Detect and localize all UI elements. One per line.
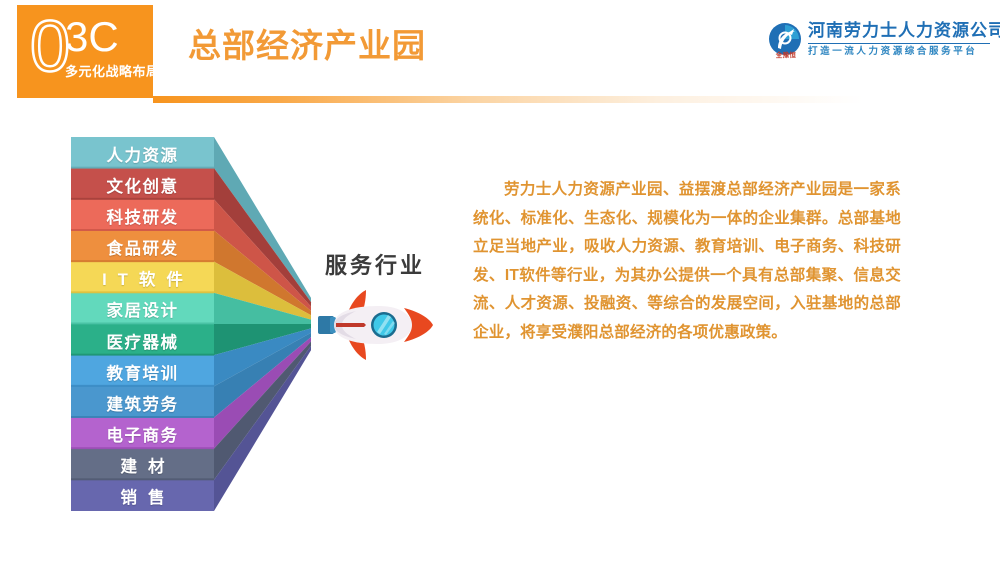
company-logo: 全豫恒 河南劳力士人力资源公司 打造一流人力资源综合服务平台: [768, 20, 990, 64]
funnel-layer-label: 文化创意: [71, 173, 214, 197]
funnel-layer-label: 科技研发: [71, 204, 214, 228]
funnel-layer-label: IT软件: [71, 266, 214, 290]
logo-mark-subtext: 全豫恒: [768, 52, 804, 60]
service-industry-label: 服务行业: [300, 248, 450, 280]
funnel-layer-label: 人力资源: [71, 142, 214, 166]
funnel-layer-label: 教育培训: [71, 360, 214, 384]
badge-code-label: 3C: [65, 16, 119, 58]
description-paragraph: 劳力士人力资源产业园、益摆渡总部经济产业园是一家系统化、标准化、生态化、规模化为…: [473, 176, 901, 347]
funnel-layer-label: 家居设计: [71, 297, 214, 321]
funnel-layer-label: 电子商务: [71, 422, 214, 446]
badge-subtitle: 多元化战略布局: [65, 64, 160, 79]
industry-funnel-diagram: 人力资源文化创意科技研发食品研发IT软件家居设计医疗器械教育培训建筑劳务电子商务…: [71, 137, 321, 511]
funnel-layer-label: 医疗器械: [71, 329, 214, 353]
logo-slogan: 打造一流人力资源综合服务平台: [808, 45, 977, 58]
funnel-layer-labels: 人力资源文化创意科技研发食品研发IT软件家居设计医疗器械教育培训建筑劳务电子商务…: [71, 137, 211, 511]
page-title: 总部经济产业园: [188, 26, 426, 66]
section-number-badge: 0 3C 多元化战略布局: [17, 5, 153, 98]
logo-company-name: 河南劳力士人力资源公司: [808, 21, 1000, 41]
logo-divider: [808, 43, 990, 44]
header-gradient-divider: [153, 96, 863, 103]
rocket-icon: [300, 282, 436, 366]
funnel-layer-label: 食品研发: [71, 235, 214, 259]
funnel-layer-label: 建筑劳务: [71, 391, 214, 415]
funnel-layer-label: 建材: [71, 453, 214, 477]
company-emblem-icon: [768, 22, 802, 56]
funnel-layer-label: 销售: [71, 484, 214, 508]
